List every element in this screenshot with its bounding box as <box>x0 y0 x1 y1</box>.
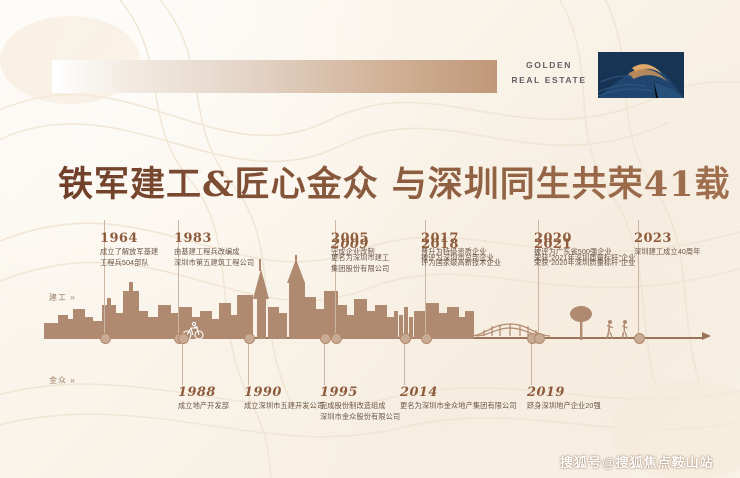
park-scene-illustration <box>470 300 660 340</box>
entry-desc-line: 由基建工程兵改编成 <box>174 247 254 258</box>
entry-block: 2021 荣获“2021年深圳质量标杆”企业 <box>534 237 636 264</box>
entry-year: 2018 <box>421 237 494 253</box>
entry-year: 2023 <box>634 231 701 247</box>
entry-year: 1988 <box>178 385 229 401</box>
timeline-node-dot[interactable] <box>178 333 189 344</box>
timeline-stem-lower <box>248 339 249 385</box>
entry-block: 1995 完成股份制改造组成 深圳市金众股份有限公司 <box>320 385 400 422</box>
entry-desc-line: 跻身深圳地产企业20强 <box>527 401 601 412</box>
entry-block: 2014 更名为深圳市金众地产集团有限公司 <box>400 385 517 412</box>
timeline-node-dot[interactable] <box>244 333 255 344</box>
timeline: 建工 » 金众 » <box>0 215 740 415</box>
timeline-stem-lower <box>182 339 183 385</box>
entry-desc-line: 成立了解放军基建 <box>100 247 158 258</box>
entry-block: 2018 被评为深圳市总部企业 <box>421 237 494 264</box>
entry-desc-line: 成立深圳市五建开发公司 <box>244 401 324 412</box>
entry-block: 1988 成立地产开发部 <box>178 385 229 412</box>
timeline-node-dot[interactable] <box>100 333 111 344</box>
entry-desc-line: 深圳市第五建筑工程公司 <box>174 258 254 269</box>
entry-block: 2019 跻身深圳地产企业20强 <box>527 385 601 412</box>
timeline-label-lower: 金众 » <box>49 375 76 386</box>
timeline-node-dot[interactable] <box>634 333 645 344</box>
timeline-node-dot[interactable] <box>320 333 331 344</box>
watermark: 搜狐号@搜狐焦点鞍山站 <box>560 452 714 471</box>
entry-block: 2009 更名为深圳市建工 集团股份有限公司 <box>331 237 389 274</box>
timeline-node-dot[interactable] <box>534 333 545 344</box>
wave-photo <box>598 52 684 98</box>
entry-desc-line: 荣获“2021年深圳质量标杆”企业 <box>534 253 636 264</box>
entry-block: 1990 成立深圳市五建开发公司 <box>244 385 324 412</box>
entry-year: 1964 <box>100 231 158 247</box>
entry-year: 1983 <box>174 231 254 247</box>
timeline-stem-lower <box>324 339 325 385</box>
timeline-stem-lower <box>531 339 532 385</box>
entry-desc-line: 深圳市金众股份有限公司 <box>320 412 400 423</box>
wave-illustration <box>598 52 684 98</box>
entry-block: 2023 深圳建工成立40周年 <box>634 231 701 258</box>
entry-block: 1964 成立了解放军基建 工程兵504部队 <box>100 231 158 268</box>
brand-name-line1: GOLDEN <box>506 58 592 73</box>
entry-year: 1990 <box>244 385 324 401</box>
timeline-node-dot[interactable] <box>400 333 411 344</box>
poster-canvas: GOLDEN REAL ESTATE 铁军建工&匠心金众 与深圳同生共荣41载 … <box>0 0 740 478</box>
entry-desc-line: 完成股份制改造组成 <box>320 401 400 412</box>
timeline-stem-lower <box>404 339 405 385</box>
entry-desc-line: 工程兵504部队 <box>100 258 158 269</box>
header-gradient-bar <box>52 60 497 93</box>
entry-desc-line: 更名为深圳市金众地产集团有限公司 <box>400 401 517 412</box>
entry-desc-line: 集团股份有限公司 <box>331 264 389 275</box>
timeline-node-dot[interactable] <box>331 333 342 344</box>
entry-year: 2014 <box>400 385 517 401</box>
entry-year: 2019 <box>527 385 601 401</box>
entry-desc-line: 深圳建工成立40周年 <box>634 247 701 258</box>
page-title: 铁军建工&匠心金众 与深圳同生共荣41载 <box>58 156 731 207</box>
brand-name-line2: REAL ESTATE <box>506 73 592 88</box>
entry-desc-line: 被评为深圳市总部企业 <box>421 253 494 264</box>
entry-year: 2021 <box>534 237 636 253</box>
timeline-node-dot[interactable] <box>421 333 432 344</box>
entry-block: 1983 由基建工程兵改编成 深圳市第五建筑工程公司 <box>174 231 254 268</box>
timeline-arrow-icon <box>702 332 711 340</box>
entry-desc-line: 更名为深圳市建工 <box>331 253 389 264</box>
entry-year: 2009 <box>331 237 389 253</box>
entry-year: 1995 <box>320 385 400 401</box>
entry-desc-line: 成立地产开发部 <box>178 401 229 412</box>
brand-logo: GOLDEN REAL ESTATE <box>506 58 592 88</box>
